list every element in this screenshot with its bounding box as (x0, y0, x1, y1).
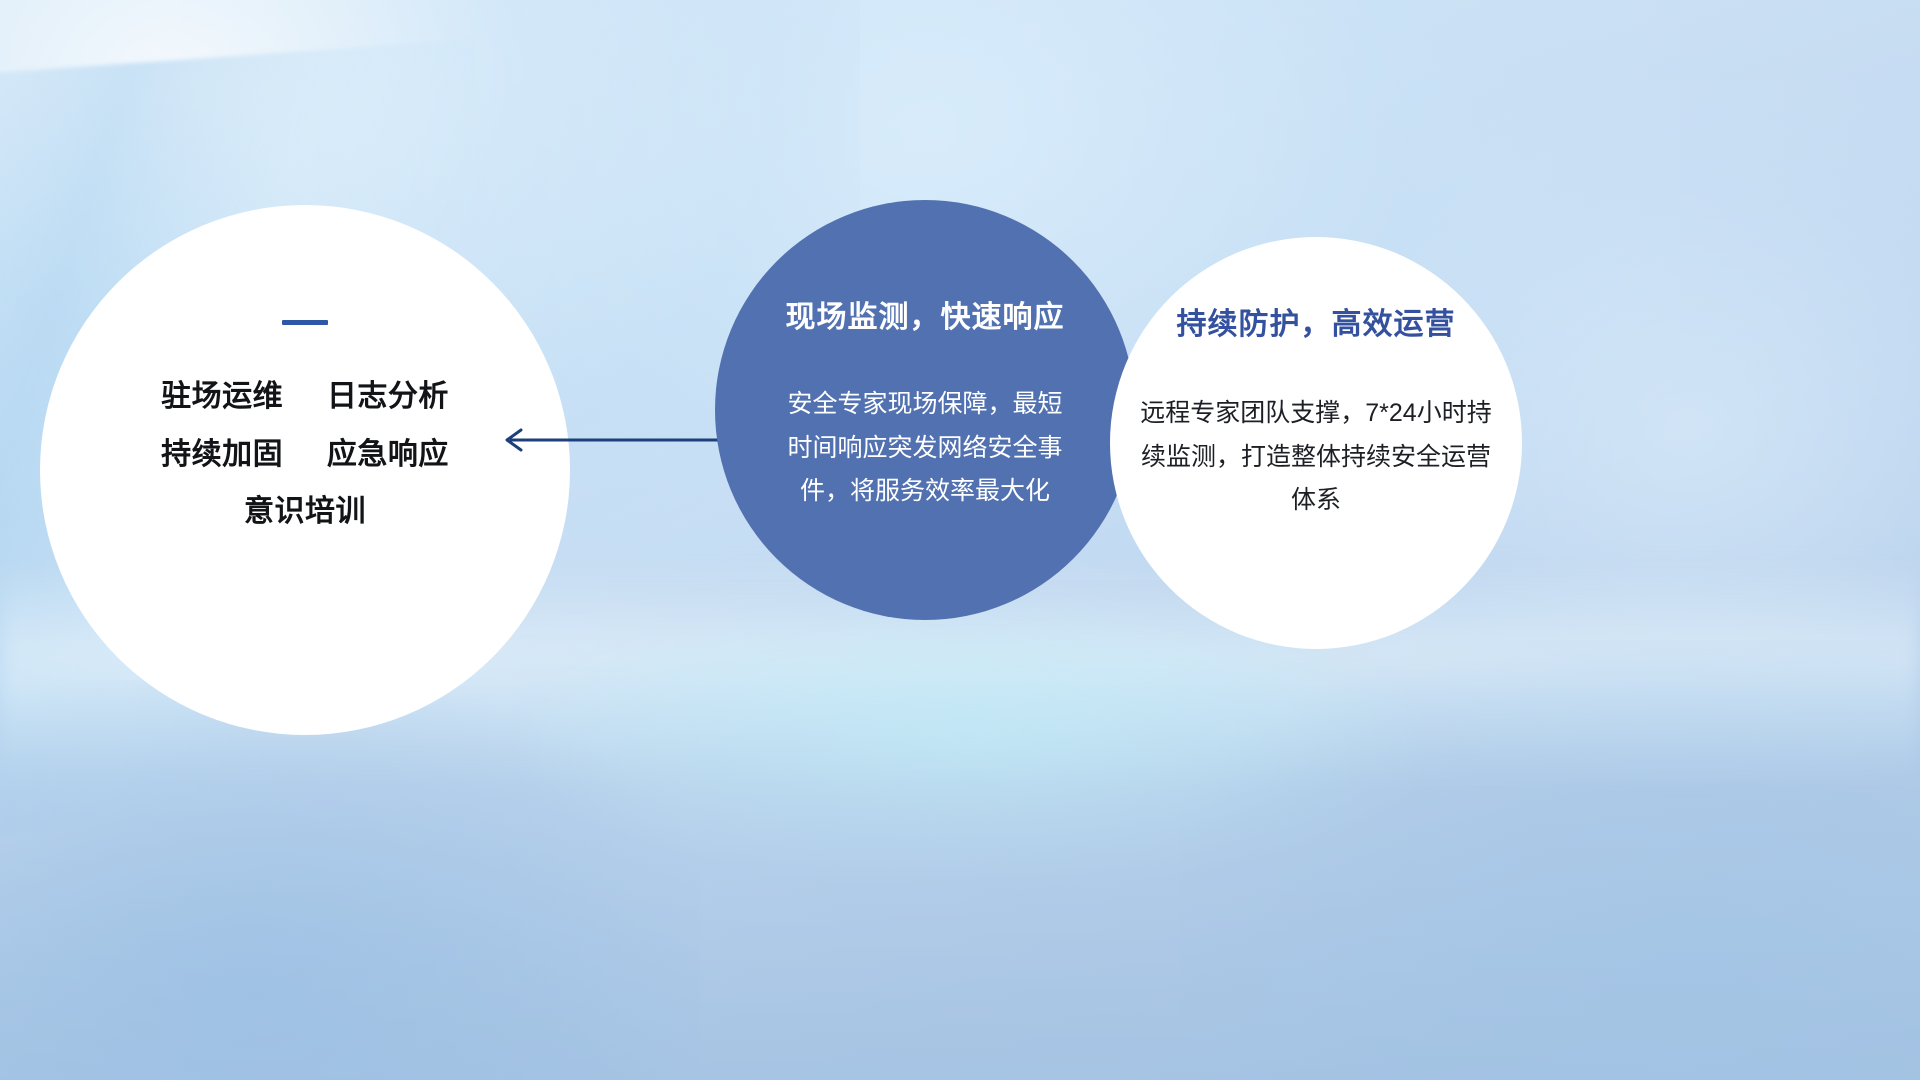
tag-label: 驻场运维 (161, 380, 283, 413)
tag-label: 持续加固 (161, 438, 283, 471)
arrow-left-icon (494, 424, 719, 456)
onsite-monitoring-title: 现场监测，快速响应 (786, 292, 1065, 336)
continuous-protection-body: 远程专家团队支撑，7*24小时持续监测，打造整体持续安全运营体系 (1137, 392, 1495, 523)
onsite-monitoring-circle[interactable]: 现场监测，快速响应 安全专家现场保障，最短时间响应突发网络安全事件，将服务效率最… (715, 200, 1135, 620)
divider-dash (282, 320, 328, 325)
capability-tag-list: 驻场运维 日志分析 持续加固 应急响应 意识培训 (161, 368, 449, 541)
onsite-monitoring-body: 安全专家现场保障，最短时间响应突发网络安全事件，将服务效率最大化 (780, 383, 1070, 514)
tag-label: 意识培训 (244, 495, 366, 528)
list-item: 驻场运维 日志分析 (161, 368, 449, 426)
continuous-protection-title: 持续防护，高效运营 (1177, 299, 1456, 343)
list-item: 意识培训 (161, 483, 449, 541)
capability-tags-circle[interactable]: 驻场运维 日志分析 持续加固 应急响应 意识培训 (40, 205, 570, 735)
list-item: 持续加固 应急响应 (161, 426, 449, 484)
diagram-stage: 驻场运维 日志分析 持续加固 应急响应 意识培训 现场监测，快速响应 安全专家现… (0, 0, 1920, 1080)
continuous-protection-circle[interactable]: 持续防护，高效运营 远程专家团队支撑，7*24小时持续监测，打造整体持续安全运营… (1110, 237, 1522, 649)
tag-label: 日志分析 (327, 380, 449, 413)
tag-label: 应急响应 (327, 438, 449, 471)
